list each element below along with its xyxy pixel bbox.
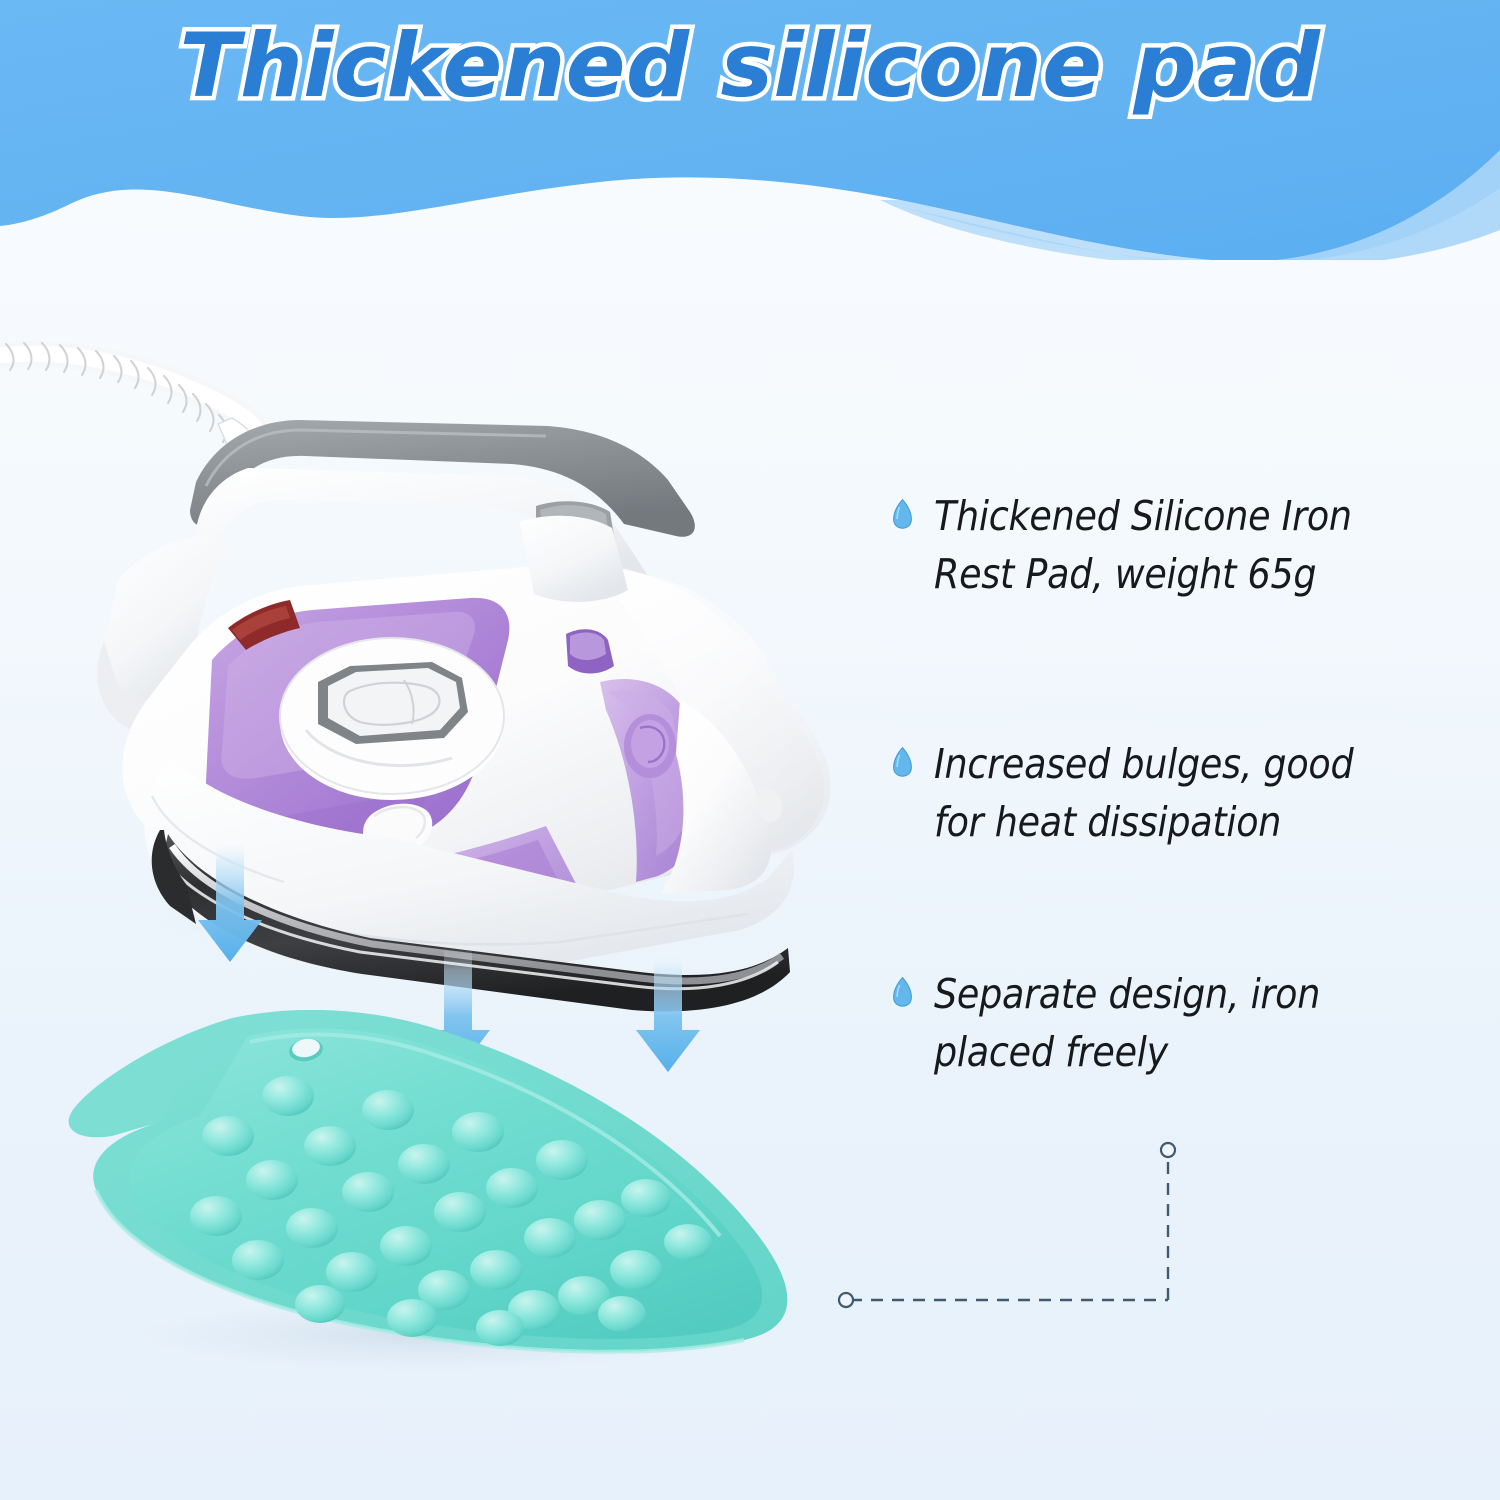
water-drop-icon (893, 977, 912, 1007)
feature-item-1: Thickened Silicone Iron Rest Pad, weight… (893, 487, 1470, 603)
feature-text-1: Thickened Silicone Iron Rest Pad, weight… (934, 487, 1411, 603)
water-drop-icon (893, 499, 912, 529)
page-title: Thickened silicone pad (0, 14, 1500, 117)
feature-text-2: Increased bulges, good for heat dissipat… (934, 735, 1411, 851)
infographic-canvas: Thickened silicone pad Thickened silicon… (0, 0, 1500, 1500)
feature-text-3: Separate design, iron placed freely (934, 965, 1411, 1081)
steam-slider-housing (520, 516, 628, 602)
guide-endpoint-top (1161, 1143, 1175, 1157)
water-drop-icon (893, 747, 912, 777)
power-cord (0, 343, 262, 464)
dimension-callout-guides (820, 1120, 1240, 1330)
guide-endpoint-left (839, 1293, 853, 1307)
product-illustration (0, 230, 900, 1380)
steam-iron (0, 343, 831, 1011)
feature-item-3: Separate design, iron placed freely (893, 965, 1470, 1081)
feature-item-2: Increased bulges, good for heat dissipat… (893, 735, 1470, 851)
silicone-iron-rest-pad (69, 1010, 788, 1352)
header-banner: Thickened silicone pad Thickened silicon… (0, 0, 1500, 260)
